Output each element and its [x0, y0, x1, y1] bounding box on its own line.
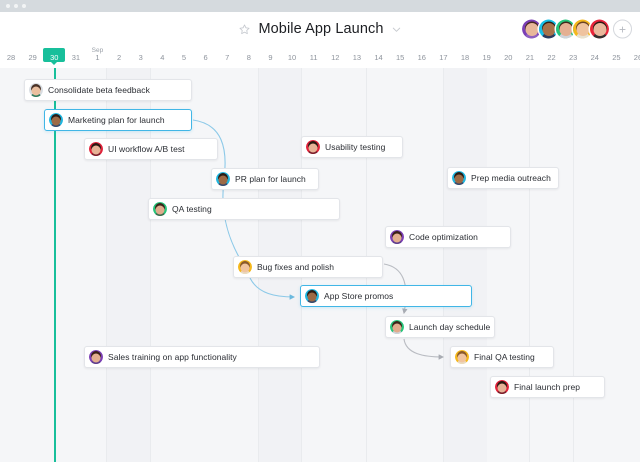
ruler-day-12[interactable]: 12	[324, 46, 346, 68]
avatar-face	[393, 233, 402, 242]
link-bugfixes-to-appstore	[250, 278, 294, 297]
ruler-day-30[interactable]: 30	[43, 46, 65, 68]
task-card-prep-media-outreach[interactable]: Prep media outreach	[447, 167, 559, 189]
ruler-day-31[interactable]: 31	[65, 46, 87, 68]
ruler-day-11[interactable]: 11	[303, 46, 325, 68]
task-assignee-avatar[interactable]	[89, 142, 103, 156]
ruler-day-label: 10	[288, 53, 296, 62]
avatar-face	[309, 143, 318, 152]
ruler-day-21[interactable]: 21	[519, 46, 541, 68]
ruler-day-28[interactable]: 28	[0, 46, 22, 68]
task-assignee-avatar[interactable]	[455, 350, 469, 364]
task-card-consolidate-beta-feedback[interactable]: Consolidate beta feedback	[24, 79, 192, 101]
avatar-face	[498, 383, 507, 392]
avatar-face	[92, 353, 101, 362]
avatar-face	[593, 23, 606, 36]
chevron-down-icon[interactable]	[391, 24, 402, 35]
ruler-day-24[interactable]: 24	[584, 46, 606, 68]
task-card-final-launch-prep[interactable]: Final launch prep	[490, 376, 605, 398]
avatar-face	[92, 145, 101, 154]
ruler-day-16[interactable]: 16	[411, 46, 433, 68]
add-member-button[interactable]: +	[613, 20, 632, 39]
task-card-ui-workflow-ab-test[interactable]: UI workflow A/B test	[84, 138, 218, 160]
ruler-day-label: 31	[72, 53, 80, 62]
avatar-face	[458, 353, 467, 362]
minimize-dot[interactable]	[14, 4, 18, 8]
ruler-day-label: 29	[28, 53, 36, 62]
link-launchday-to-finalqa	[404, 339, 443, 357]
task-card-usability-testing[interactable]: Usability testing	[301, 136, 403, 158]
link-pr-to-bugfixes	[223, 180, 243, 264]
task-card-app-store-promos[interactable]: App Store promos	[300, 285, 472, 307]
task-card-label: PR plan for launch	[235, 174, 306, 184]
project-title-group[interactable]: Mobile App Launch	[238, 21, 401, 37]
ruler-day-26[interactable]: 26	[627, 46, 640, 68]
avatar-face	[576, 23, 589, 36]
task-card-label: Code optimization	[409, 232, 478, 242]
ruler-day-10[interactable]: 10	[281, 46, 303, 68]
avatar-face	[32, 86, 41, 95]
task-assignee-avatar[interactable]	[305, 289, 319, 303]
task-card-qa-testing[interactable]: QA testing	[148, 198, 340, 220]
date-ruler[interactable]: 2829303112345678910111213141516171819202…	[0, 46, 640, 69]
member-avatars[interactable]: +	[524, 20, 632, 39]
maximize-dot[interactable]	[22, 4, 26, 8]
ruler-day-5[interactable]: 5	[173, 46, 195, 68]
window-controls[interactable]	[6, 4, 26, 8]
ruler-day-label: 24	[591, 53, 599, 62]
ruler-day-3[interactable]: 3	[130, 46, 152, 68]
task-card-launch-day-schedule[interactable]: Launch day schedule	[385, 316, 495, 338]
ruler-day-label: 20	[504, 53, 512, 62]
task-card-code-optimization[interactable]: Code optimization	[385, 226, 511, 248]
avatar-face	[542, 23, 555, 36]
task-card-sales-training-on-app-functionality[interactable]: Sales training on app functionality	[84, 346, 320, 368]
task-card-label: UI workflow A/B test	[108, 144, 185, 154]
ruler-day-label: 12	[331, 53, 339, 62]
ruler-day-25[interactable]: 25	[605, 46, 627, 68]
task-assignee-avatar[interactable]	[495, 380, 509, 394]
task-assignee-avatar[interactable]	[452, 171, 466, 185]
avatar-face	[52, 116, 61, 125]
ruler-day-label: 5	[182, 53, 186, 62]
ruler-day-8[interactable]: 8	[238, 46, 260, 68]
ruler-day-6[interactable]: 6	[195, 46, 217, 68]
ruler-day-29[interactable]: 29	[22, 46, 44, 68]
avatar-face	[525, 23, 538, 36]
ruler-day-label: 18	[461, 53, 469, 62]
task-card-label: Sales training on app functionality	[108, 352, 237, 362]
ruler-day-20[interactable]: 20	[497, 46, 519, 68]
close-dot[interactable]	[6, 4, 10, 8]
window-titlebar	[0, 0, 640, 12]
ruler-day-label: 14	[374, 53, 382, 62]
ruler-day-label: 7	[225, 53, 229, 62]
ruler-day-label: 2	[117, 53, 121, 62]
ruler-day-label: 15	[396, 53, 404, 62]
ruler-day-4[interactable]: 4	[151, 46, 173, 68]
task-card-label: Final launch prep	[514, 382, 580, 392]
ruler-day-label: 8	[247, 53, 251, 62]
ruler-day-label: 19	[482, 53, 490, 62]
ruler-day-label: 26	[634, 53, 640, 62]
ruler-day-9[interactable]: 9	[259, 46, 281, 68]
avatar-face	[455, 174, 464, 183]
timeline-canvas[interactable]: Consolidate beta feedbackMarketing plan …	[0, 68, 640, 462]
ruler-day-label: 6	[203, 53, 207, 62]
task-card-label: Marketing plan for launch	[68, 115, 165, 125]
task-assignee-avatar[interactable]	[49, 113, 63, 127]
task-card-final-qa-testing[interactable]: Final QA testing	[450, 346, 554, 368]
task-assignee-avatar[interactable]	[89, 350, 103, 364]
task-card-label: Consolidate beta feedback	[48, 85, 150, 95]
task-assignee-avatar[interactable]	[216, 172, 230, 186]
ruler-day-17[interactable]: 17	[432, 46, 454, 68]
ruler-day-label: 16	[418, 53, 426, 62]
ruler-day-label: 21	[526, 53, 534, 62]
task-card-label: Final QA testing	[474, 352, 535, 362]
ruler-day-15[interactable]: 15	[389, 46, 411, 68]
task-card-label: Launch day schedule	[409, 322, 490, 332]
task-card-marketing-plan-for-launch[interactable]: Marketing plan for launch	[44, 109, 192, 131]
ruler-day-label: 25	[612, 53, 620, 62]
avatar-face	[559, 23, 572, 36]
ruler-day-label: 22	[547, 53, 555, 62]
task-assignee-avatar[interactable]	[29, 83, 43, 97]
task-assignee-avatar[interactable]	[306, 140, 320, 154]
ruler-day-label: 1	[95, 53, 99, 62]
ruler-day-22[interactable]: 22	[541, 46, 563, 68]
ruler-day-label: 30	[50, 53, 58, 62]
task-assignee-avatar[interactable]	[390, 230, 404, 244]
app-window: Mobile App Launch + 28293031123456789101…	[0, 0, 640, 462]
avatar-face	[308, 292, 317, 301]
ruler-day-label: 11	[310, 53, 318, 62]
task-card-label: QA testing	[172, 204, 212, 214]
page-title: Mobile App Launch	[258, 21, 383, 37]
task-card-label: App Store promos	[324, 291, 393, 301]
task-assignee-avatar[interactable]	[153, 202, 167, 216]
avatar-face	[219, 175, 228, 184]
ruler-day-14[interactable]: 14	[368, 46, 390, 68]
ruler-day-18[interactable]: 18	[454, 46, 476, 68]
star-icon[interactable]	[238, 23, 251, 36]
ruler-day-label: 3	[139, 53, 143, 62]
app-header: Mobile App Launch +	[0, 12, 640, 47]
avatar-face	[241, 263, 250, 272]
ruler-day-13[interactable]: 13	[346, 46, 368, 68]
ruler-day-label: 9	[268, 53, 272, 62]
task-card-label: Bug fixes and polish	[257, 262, 334, 272]
task-card-pr-plan-for-launch[interactable]: PR plan for launch	[211, 168, 319, 190]
task-card-label: Usability testing	[325, 142, 385, 152]
ruler-day-2[interactable]: 2	[108, 46, 130, 68]
avatar-face	[393, 323, 402, 332]
avatar-face	[156, 205, 165, 214]
task-card-bug-fixes-and-polish[interactable]: Bug fixes and polish	[233, 256, 383, 278]
task-assignee-avatar[interactable]	[238, 260, 252, 274]
ruler-day-label: 4	[160, 53, 164, 62]
avatar[interactable]	[590, 20, 609, 39]
task-card-label: Prep media outreach	[471, 173, 551, 183]
ruler-day-label: 23	[569, 53, 577, 62]
ruler-day-7[interactable]: 7	[216, 46, 238, 68]
ruler-day-label: 13	[353, 53, 361, 62]
task-assignee-avatar[interactable]	[390, 320, 404, 334]
ruler-day-23[interactable]: 23	[562, 46, 584, 68]
ruler-day-19[interactable]: 19	[476, 46, 498, 68]
ruler-day-label: 17	[439, 53, 447, 62]
ruler-day-label: 28	[7, 53, 15, 62]
